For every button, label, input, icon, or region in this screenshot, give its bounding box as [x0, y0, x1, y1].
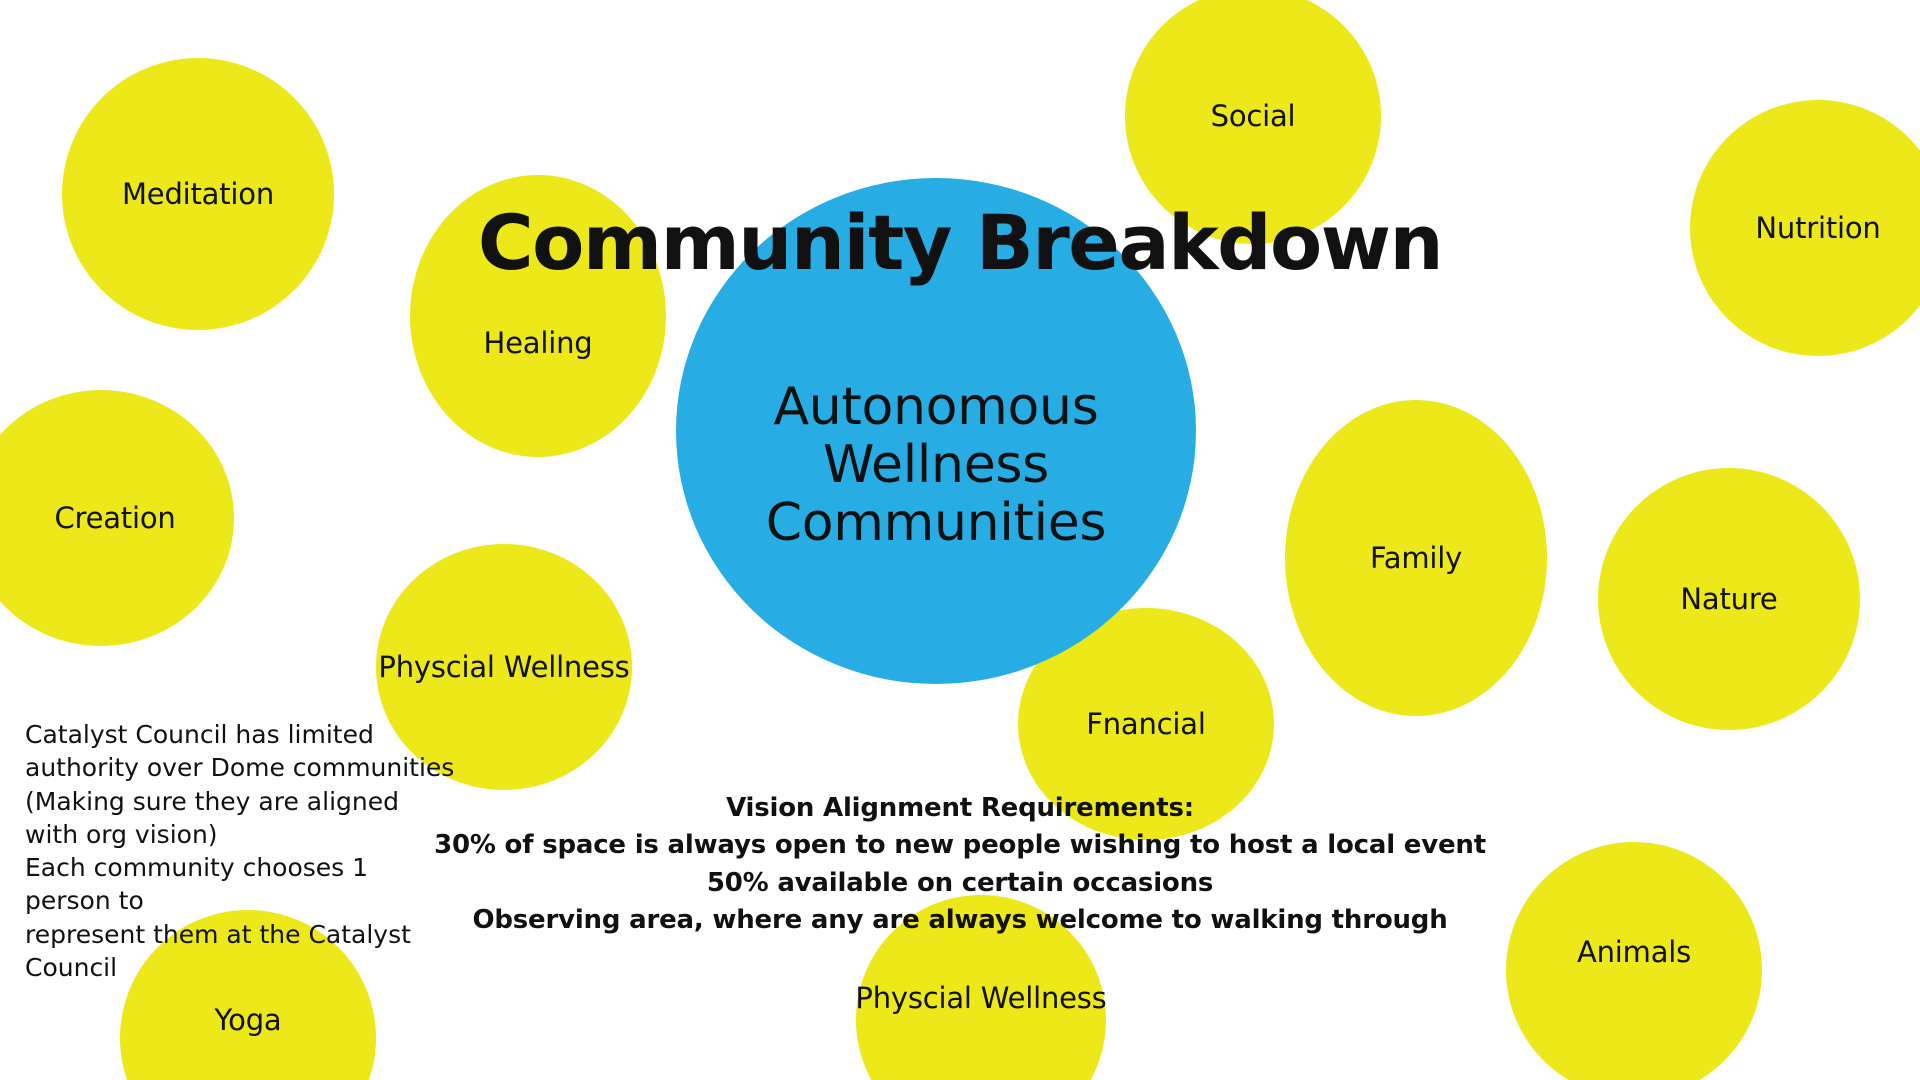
hub-label-line-3: Communities	[766, 493, 1106, 553]
bubble-family[interactable]: Family	[1285, 400, 1547, 716]
hub-label-line-2: Wellness	[823, 435, 1049, 495]
bubble-social[interactable]: Social	[1125, 0, 1381, 244]
vision-alignment-requirements: Vision Alignment Requirements: 30% of sp…	[380, 790, 1540, 940]
vision-heading: Vision Alignment Requirements:	[380, 790, 1540, 827]
bubble-creation[interactable]: Creation	[0, 390, 234, 646]
bubble-label-nutrition: Nutrition	[1755, 211, 1880, 245]
bubble-label-physical-wellness-bottom: Physcial Wellness	[855, 981, 1106, 1015]
bubble-label-nature: Nature	[1680, 582, 1777, 616]
bubble-nutrition[interactable]: Nutrition	[1690, 100, 1920, 356]
bubble-healing[interactable]: Healing	[410, 175, 666, 457]
bubble-label-animals: Animals	[1577, 935, 1691, 969]
hub-label: Autonomous Wellness Communities	[766, 378, 1106, 553]
bubble-nature[interactable]: Nature	[1598, 468, 1860, 730]
bubble-label-family: Family	[1370, 541, 1462, 575]
bubble-label-healing: Healing	[484, 326, 593, 360]
vision-line-1: 30% of space is always open to new peopl…	[380, 827, 1540, 864]
bubble-label-physical-wellness-left: Physcial Wellness	[378, 650, 629, 684]
hub-autonomous-wellness-communities[interactable]: Autonomous Wellness Communities	[676, 178, 1196, 684]
bubble-label-meditation: Meditation	[122, 177, 274, 211]
bubble-meditation[interactable]: Meditation	[62, 58, 334, 330]
note-line-1: Catalyst Council has limited	[25, 718, 455, 751]
vision-line-2: 50% available on certain occasions	[380, 865, 1540, 902]
bubble-label-financial: Fnancial	[1086, 707, 1205, 741]
vision-line-3: Observing area, where any are always wel…	[380, 902, 1540, 939]
bubble-animals[interactable]: Animals	[1506, 842, 1762, 1080]
bubble-label-yoga: Yoga	[215, 1003, 282, 1037]
bubble-label-creation: Creation	[54, 501, 175, 535]
bubble-label-social: Social	[1211, 99, 1296, 133]
hub-label-line-1: Autonomous	[773, 377, 1098, 437]
note-line-2: authority over Dome communities	[25, 751, 455, 784]
slide-canvas: Meditation Social Nutrition Healing Crea…	[0, 0, 1920, 1080]
